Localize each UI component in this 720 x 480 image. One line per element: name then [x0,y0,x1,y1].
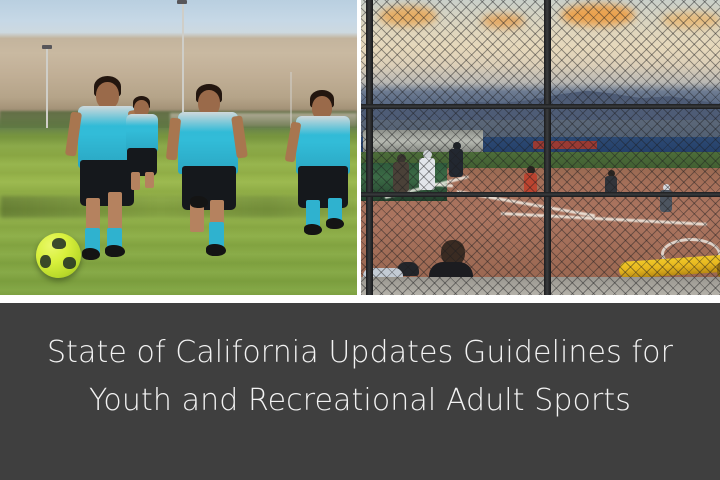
player-c-jersey-shoulder [178,112,238,132]
ball-marking-3 [63,257,76,269]
player-c-jersey [178,112,238,174]
fence-rail-lower [361,192,720,197]
fence-rail-upper [361,104,720,109]
photo-youth-soccer [0,0,357,295]
player-a-shoe-left [82,248,100,260]
player-a-leg-left [86,198,100,232]
page-title-line-1: State of California Updates Guidelines f… [47,329,673,377]
photo-strip [0,0,720,295]
player-d-shoe-right [326,218,344,229]
page-title-line-2: Youth and Recreational Adult Sports [89,377,631,425]
player-b-leg-b [145,172,154,188]
player-d-jersey-shoulder [296,116,350,135]
player-b-jersey [126,114,158,152]
player-a-head [96,82,119,109]
chain-link-fence [361,0,720,295]
fence-post-left [366,0,373,295]
fence-post-center [544,0,551,295]
player-b-leg-a [131,172,140,190]
player-c-shoe-left [190,196,208,208]
slide-root: State of California Updates Guidelines f… [0,0,720,480]
title-banner: State of California Updates Guidelines f… [0,303,720,480]
photo-softball-field [361,0,720,295]
player-c-shoe-right [206,244,226,256]
ball-marking-2 [40,255,51,268]
player-d-shoe-left [304,224,322,235]
player-b-jersey-shoulder [126,114,158,126]
soccer-ball [36,233,81,278]
light-pole-right [290,72,292,128]
light-pole-left [46,48,48,128]
player-a-leg-right [108,192,122,232]
light-pole-center-head [177,0,187,4]
light-pole-left-head [42,45,52,49]
photo-gutter-horizontal [0,295,720,303]
player-a-shoe-right [105,245,125,257]
light-pole-center [182,2,184,128]
ball-marking-1 [52,238,66,249]
